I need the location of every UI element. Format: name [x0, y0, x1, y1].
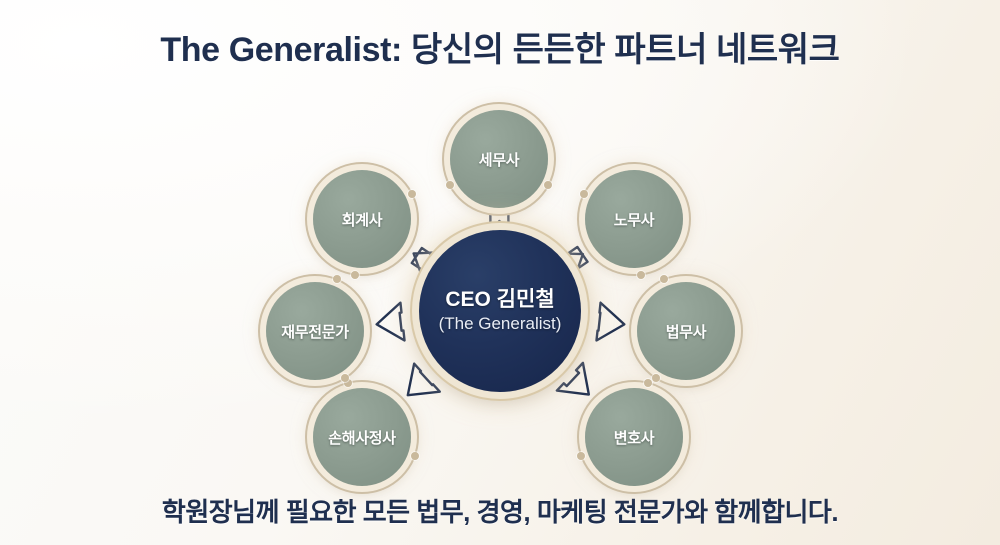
ring-dot-icon — [652, 374, 660, 382]
satellite-node-label: 세무사 — [479, 149, 520, 170]
slide-canvas: The Generalist: 당신의 든든한 파트너 네트워크 CEO 김민철… — [0, 0, 1000, 545]
connector-arrow — [408, 364, 440, 396]
page-title: The Generalist: 당신의 든든한 파트너 네트워크 — [0, 22, 1000, 71]
ring-dot-icon — [411, 452, 419, 460]
ring-dot-icon — [408, 190, 416, 198]
satellite-node[interactable]: 세무사 — [450, 110, 548, 208]
satellite-node[interactable]: 법무사 — [637, 282, 735, 380]
center-node-role: (The Generalist) — [439, 313, 562, 334]
ring-dot-icon — [637, 271, 645, 279]
satellite-node-label: 회계사 — [342, 209, 383, 230]
satellite-node-label: 노무사 — [614, 209, 655, 230]
network-diagram: CEO 김민철 (The Generalist) 세무사노무사법무사변호사손해사… — [0, 88, 1000, 468]
connector-arrow — [377, 303, 405, 341]
center-node-name: CEO 김민철 — [445, 288, 554, 312]
page-caption: 학원장님께 필요한 모든 법무, 경영, 마케팅 전문가와 함께합니다. — [0, 492, 1000, 529]
satellite-node[interactable]: 회계사 — [313, 170, 411, 268]
satellite-node[interactable]: 재무전문가 — [266, 282, 364, 380]
satellite-node[interactable]: 노무사 — [585, 170, 683, 268]
ring-dot-icon — [580, 190, 588, 198]
ring-dot-icon — [644, 379, 652, 387]
connector-arrow — [557, 363, 589, 395]
satellite-node-label: 손해사정사 — [328, 427, 396, 448]
connector-arrow — [596, 303, 624, 341]
satellite-node[interactable]: 변호사 — [585, 388, 683, 486]
satellite-node-label: 재무전문가 — [281, 321, 349, 342]
satellite-node-label: 변호사 — [614, 427, 655, 448]
satellite-node-label: 법무사 — [666, 321, 707, 342]
ring-dot-icon — [351, 271, 359, 279]
satellite-node[interactable]: 손해사정사 — [313, 388, 411, 486]
center-node-ceo[interactable]: CEO 김민철 (The Generalist) — [419, 230, 581, 392]
ring-dot-icon — [446, 181, 454, 189]
